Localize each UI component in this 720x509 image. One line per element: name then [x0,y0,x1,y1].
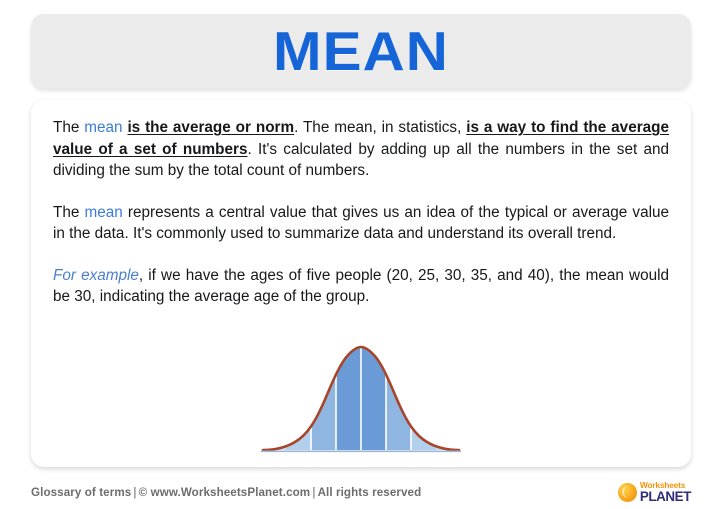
logo-wordmark: Worksheets PLANET [640,481,691,504]
normal-distribution-chart [261,342,461,460]
divider-pos1 [385,342,387,460]
keyword-mean: mean [84,119,122,136]
title-panel: MEAN [31,14,691,89]
divider-neg1 [335,342,337,460]
divider-neg2 [310,342,312,460]
emphasis-run: is the average or norm [127,119,294,136]
band-neg3-neg2 [286,342,311,460]
bell-curve-figure [31,336,691,460]
example-lead-in: For example [53,267,139,284]
worksheets-planet-logo[interactable]: Worksheets PLANET [618,481,691,504]
footer-separator: | [131,486,138,499]
page-title: MEAN [273,24,449,79]
logo-top-word: Worksheets [640,481,691,489]
rights-label: All rights reserved [318,486,422,499]
paragraph-definition: The mean is the average or norm. The mea… [53,117,669,182]
text-run: The [53,204,84,221]
text-run: . The mean, in statistics, [294,119,466,136]
footer: Glossary of terms|© www.WorksheetsPlanet… [31,481,691,503]
band-3-4 [436,342,461,460]
copyright-link[interactable]: © www.WorksheetsPlanet.com [139,486,311,499]
glossary-label: Glossary of terms [31,486,131,499]
worksheet-card: MEAN The mean is the average or norm. Th… [0,0,720,509]
band-0-1 [361,342,386,460]
curve-bands [261,342,461,460]
footer-separator: | [310,486,317,499]
text-run: The [53,119,84,136]
text-run: , if we have the ages of five people (20… [53,267,669,306]
text-run: represents a central value that gives us… [53,204,669,243]
paragraph-explanation: The mean represents a central value that… [53,202,669,245]
footer-credit-line: Glossary of terms|© www.WorksheetsPlanet… [31,486,421,499]
divider-mean [360,342,362,460]
keyword-mean: mean [84,204,122,221]
band-neg4-neg3 [261,342,286,460]
band-neg1-0 [336,342,361,460]
definition-panel: The mean is the average or norm. The mea… [31,100,691,467]
band-2-3 [411,342,436,460]
planet-icon [618,483,637,502]
paragraph-example: For example, if we have the ages of five… [53,265,669,308]
divider-pos2 [410,342,412,460]
logo-bottom-word: PLANET [640,490,691,503]
